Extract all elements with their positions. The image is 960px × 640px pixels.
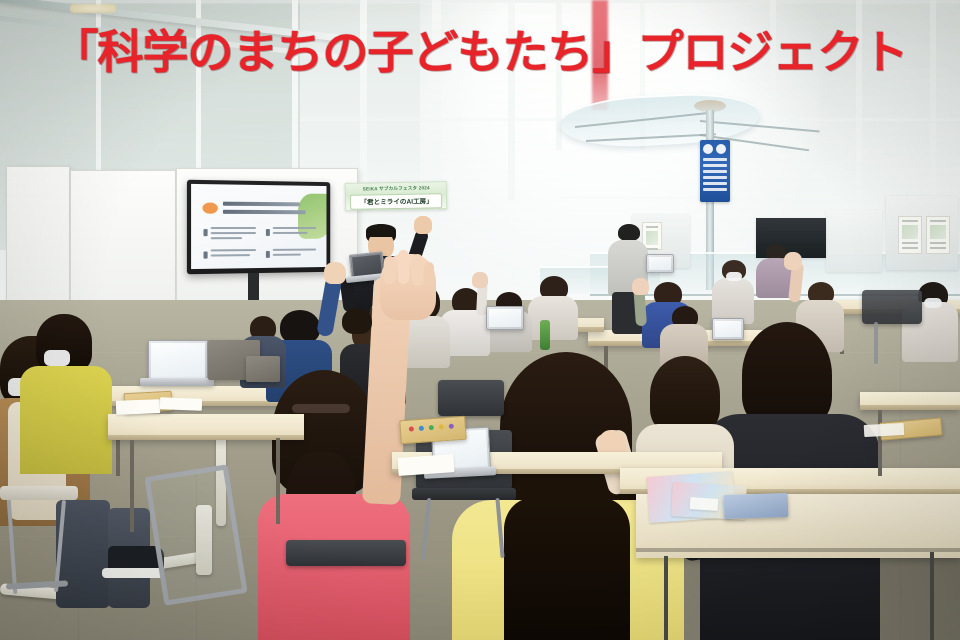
event-banner-main: 「君とミライのAI工房」 xyxy=(350,193,442,210)
raised-hand xyxy=(324,262,346,284)
event-banner-main-text: 「君とミライのAI工房」 xyxy=(360,196,433,207)
paper xyxy=(864,423,905,437)
finger xyxy=(412,254,423,286)
event-banner-top: SEIKA サブカルフェスタ 2024 xyxy=(350,184,442,193)
shoe-sole xyxy=(102,568,164,578)
workshop-photo: SEIKA サブカルフェスタ 2024 「君とミライのAI工房」 xyxy=(0,0,960,640)
chair-leg xyxy=(874,322,878,364)
raised-hand xyxy=(784,252,802,270)
mullion xyxy=(432,0,441,190)
wood-kit xyxy=(399,416,467,445)
slide-item-number xyxy=(266,229,270,236)
raised-hand xyxy=(472,272,488,288)
slide-item xyxy=(266,249,316,259)
sign-rows xyxy=(703,158,727,198)
slide-heading-line2 xyxy=(223,210,306,214)
table-leg xyxy=(664,556,668,640)
ceiling-edge xyxy=(0,0,960,3)
paper xyxy=(160,397,202,410)
table-leg xyxy=(930,552,934,640)
laptop xyxy=(148,340,208,382)
wall-poster xyxy=(898,216,922,254)
slide-item xyxy=(203,227,256,242)
water-bottle xyxy=(540,320,550,350)
slide-item-number xyxy=(266,251,270,258)
paper xyxy=(116,399,160,415)
hair-band xyxy=(292,404,350,413)
slide-item xyxy=(266,227,316,237)
mullion xyxy=(360,0,367,185)
ceiling-light xyxy=(70,4,116,13)
paper xyxy=(690,497,719,511)
slide-heading-line1 xyxy=(223,202,300,207)
table-seam xyxy=(636,548,960,552)
hanging-sign-icon xyxy=(700,140,730,202)
tablet xyxy=(724,493,789,519)
table xyxy=(108,414,304,440)
chair-seat xyxy=(0,486,78,500)
red-vertical-banner xyxy=(592,0,608,110)
chair xyxy=(286,540,406,566)
table-leg xyxy=(130,440,134,532)
raised-hand xyxy=(632,278,649,295)
slide-item-number xyxy=(203,251,207,258)
table xyxy=(860,392,960,410)
mullion xyxy=(508,0,515,200)
laptop xyxy=(712,318,744,340)
presenter-raised-hand xyxy=(414,216,432,234)
table-leg xyxy=(878,410,882,476)
table-leg xyxy=(276,438,280,524)
laptop-base xyxy=(140,378,214,386)
event-banner-top-text: SEIKA サブカルフェスタ 2024 xyxy=(362,185,429,193)
slide-item-number xyxy=(203,229,207,236)
chair xyxy=(862,290,922,324)
chair xyxy=(438,380,504,416)
presentation-monitor xyxy=(187,180,330,275)
finger xyxy=(424,262,434,288)
laptop xyxy=(486,306,524,330)
wall-poster xyxy=(926,216,950,254)
laptop xyxy=(246,356,280,382)
photo-banner: SEIKA サブカルフェスタ 2024 「君とミライのAI工房」 xyxy=(0,0,960,640)
finger xyxy=(398,250,409,284)
slide-item xyxy=(203,249,256,260)
wall-panel xyxy=(826,210,882,272)
finger xyxy=(384,256,395,284)
slide-badge xyxy=(202,202,217,213)
laptop xyxy=(646,254,674,273)
event-banner: SEIKA サブカルフェスタ 2024 「君とミライのAI工房」 xyxy=(345,181,447,211)
slide-screen xyxy=(191,184,326,269)
